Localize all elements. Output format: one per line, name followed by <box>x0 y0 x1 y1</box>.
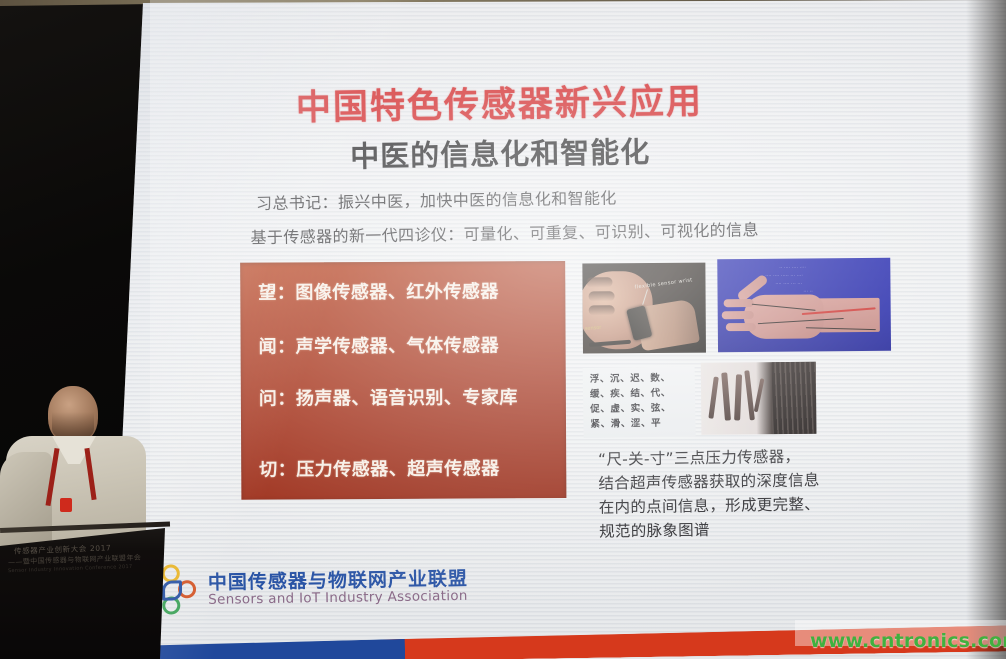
diagnostic-line-wen2: 问：扬声器、语音识别、专家库 <box>259 385 549 413</box>
watermark-text: www.cntronics.com <box>810 630 1006 652</box>
pulse-line-3: 促、虚、实、弦、 <box>586 400 692 417</box>
caption-line-4: 规范的脉象图谱 <box>599 514 959 544</box>
diagnostic-line-wang: 望：图像传感器、红外传感器 <box>258 279 499 306</box>
photo-of-conference-slide: 中国特色传感器新兴应用 中医的信息化和智能化 习总书记：振兴中医，加快中医的信息… <box>0 0 1006 659</box>
needle-5 <box>754 378 765 412</box>
speaker-shoulder-left <box>0 452 52 548</box>
association-name-en: Sensors and IoT Industry Association <box>208 588 468 608</box>
flexible-wrist-sensor-photo: flexible sensor wrist sensor <box>582 263 706 354</box>
speaker-badge <box>60 498 72 512</box>
anatomy-finger-2 <box>722 311 754 319</box>
pulse-types-box: 浮、沉、迟、数、 缓、疾、结、代、 促、虚、实、弦、 紧、滑、涩、平 <box>583 366 696 438</box>
logo-ring-center <box>162 580 182 600</box>
speaker-face-shadow <box>52 412 94 440</box>
acupuncture-needles-photo <box>701 362 817 435</box>
slide-bullet-1: 习总书记：振兴中医，加快中医的信息化和智能化 <box>256 184 617 214</box>
pressure-sensor-caption: “尺-关-寸”三点压力传感器， 结合超声传感器获取的深度信息 在内的点间信息，形… <box>598 442 959 544</box>
anatomy-finger-1 <box>724 299 754 307</box>
needle-4 <box>744 370 755 420</box>
anatomy-palm <box>744 294 824 339</box>
needle-3 <box>734 374 742 420</box>
pulse-line-2: 缓、疾、结、代、 <box>586 385 692 402</box>
anatomy-hand-shape <box>735 280 881 343</box>
anatomy-text-2: ···· ···· ····· ··· ···· <box>765 273 803 278</box>
dark-texture-panel <box>772 362 817 434</box>
anatomy-finger-3 <box>726 323 756 331</box>
association-logo-block: 中国传感器与物联网产业联盟 Sensors and IoT Industry A… <box>146 557 547 619</box>
pulse-line-4: 紧、滑、涩、平 <box>586 415 692 432</box>
hand-anatomy-diagram: ·· ···· ···· ···· ···· ···· ····· ··· ··… <box>717 258 891 353</box>
podium: 传感器产业创新大会 2017 ——暨中国传感器与物联网产业联盟年会 Sensor… <box>0 528 168 659</box>
knuckle-2 <box>589 291 615 301</box>
slide-bullet-2: 基于传感器的新一代四诊仪：可量化、可重复、可识别、可视化的信息 <box>250 216 759 248</box>
needle-2 <box>721 372 731 420</box>
diagnostic-line-qie: 切：压力传感器、超声传感器 <box>259 456 500 483</box>
diagnostic-line-wen: 闻：声学传感器、气体传感器 <box>259 333 500 360</box>
four-diagnostics-red-box: 望：图像传感器、红外传感器 闻：声学传感器、气体传感器 问：扬声器、语音识别、专… <box>240 261 566 500</box>
knuckle-1 <box>586 277 612 287</box>
pulse-line-1: 浮、沉、迟、数、 <box>586 370 692 387</box>
needle-1 <box>708 377 718 419</box>
knuckle-3 <box>589 305 615 315</box>
anatomy-text-1: ·· ···· ···· ···· <box>779 265 806 270</box>
